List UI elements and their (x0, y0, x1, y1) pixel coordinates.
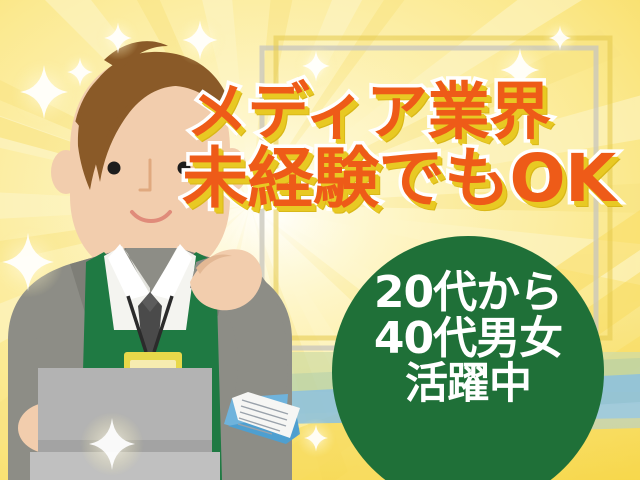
recruitment-banner: メディア業界 未経験でもOK 20代から 40代男女 活躍中 (0, 0, 640, 480)
age-range-badge: 20代から 40代男女 活躍中 (332, 236, 604, 480)
badge-text: 20代から 40代男女 活躍中 (332, 270, 604, 406)
badge-line-1: 20代から (332, 270, 604, 316)
badge-line-3: 活躍中 (332, 362, 604, 407)
badge-line-2: 40代男女 (332, 316, 604, 362)
